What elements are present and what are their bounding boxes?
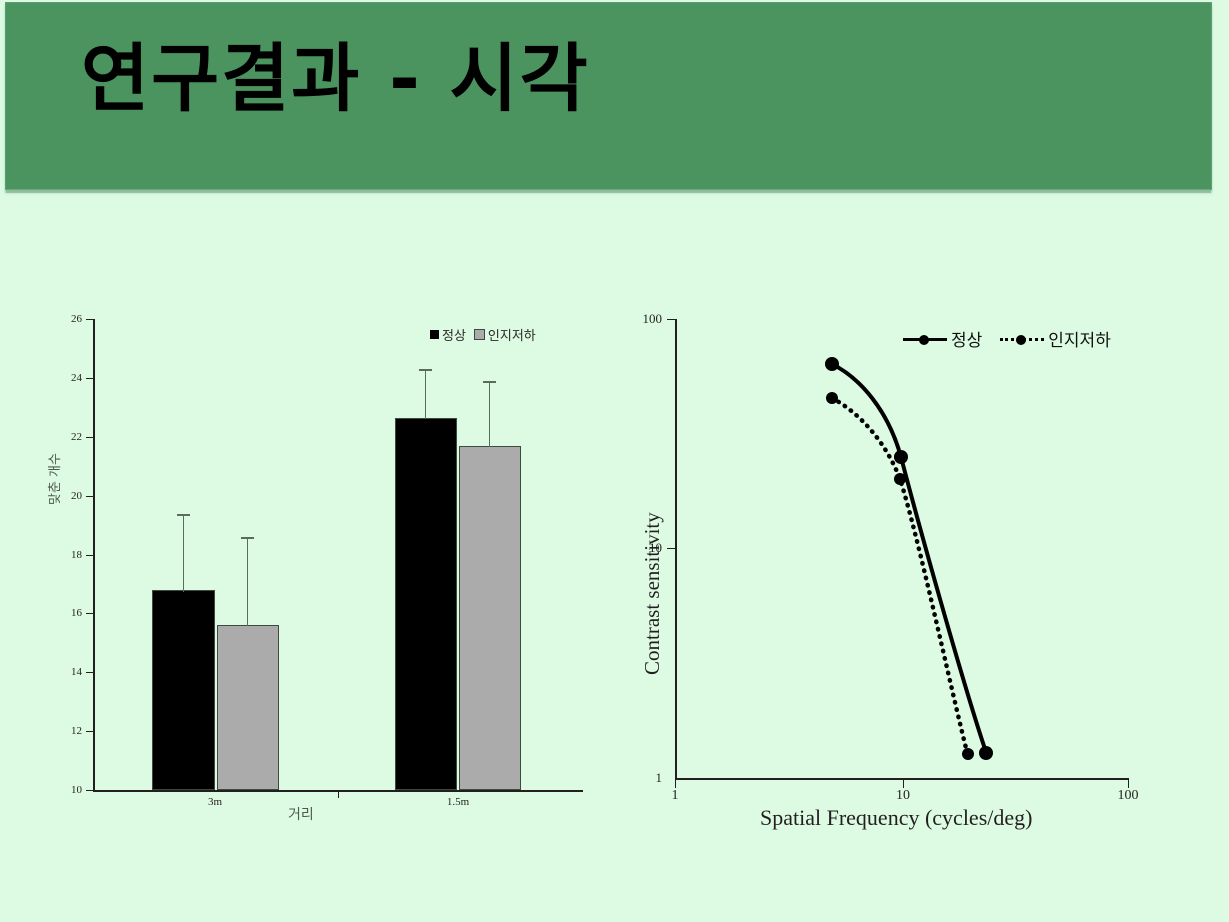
error-bar-cap [483, 381, 496, 383]
error-bar-normal-1.5m [425, 369, 426, 419]
bar-chart-legend: 정상 인지저하 [430, 325, 536, 344]
legend-label-impaired: 인지저하 [1048, 326, 1111, 351]
bar-chart-y-tick-label: 16 [52, 607, 82, 619]
bar-chart-y-axis [93, 319, 95, 791]
bar-chart: 26 24 22 20 18 16 14 12 10 맞춘 개수 3m 1.5m [0, 0, 610, 860]
bar-chart-y-tick [86, 319, 93, 320]
bar-chart-y-tick [86, 378, 93, 379]
bar-chart-y-tick [86, 613, 93, 614]
bar-chart-y-tick [86, 790, 93, 791]
bar-chart-y-tick-label: 24 [52, 372, 82, 384]
line-chart-plot-area [610, 300, 1229, 860]
legend-item-impaired: 인지저하 [1000, 326, 1111, 351]
data-point-normal [979, 746, 993, 760]
series-line-normal [832, 364, 986, 752]
legend-item-normal: 정상 [903, 326, 982, 351]
legend-label-impaired: 인지저하 [488, 325, 536, 344]
bar-chart-x-tick-label: 3m [185, 796, 245, 808]
data-point-impaired [962, 748, 974, 760]
bar-chart-y-tick-label: 26 [52, 313, 82, 325]
legend-label-normal: 정상 [442, 325, 466, 344]
bar-chart-y-tick [86, 731, 93, 732]
legend-dotted-line-icon [1000, 334, 1044, 344]
legend-swatch-icon [474, 329, 485, 340]
bar-chart-x-axis-label: 거리 [288, 804, 314, 824]
bar-chart-y-tick-label: 10 [52, 784, 82, 796]
bar-chart-x-tick-label: 1.5m [428, 796, 488, 808]
error-bar-normal-3m [183, 514, 184, 592]
error-bar-cap [241, 537, 254, 539]
data-point-impaired [894, 473, 906, 485]
data-point-normal [825, 357, 839, 371]
contrast-sensitivity-chart: 100 10 1 1 10 100 Contrast sensitivity S… [610, 300, 1229, 860]
error-bar-impaired-3m [247, 537, 248, 626]
bar-chart-x-tick [338, 791, 339, 798]
bar-normal-3m [152, 590, 215, 790]
bar-normal-1.5m [395, 418, 457, 790]
bar-chart-y-tick [86, 496, 93, 497]
data-point-impaired [826, 392, 838, 404]
legend-item-impaired: 인지저하 [474, 325, 536, 344]
error-bar-impaired-1.5m [489, 381, 490, 447]
legend-solid-line-icon [903, 334, 947, 344]
error-bar-cap [419, 369, 432, 371]
bar-impaired-1.5m [459, 446, 521, 790]
legend-label-normal: 정상 [951, 326, 982, 351]
bar-chart-y-tick-label: 12 [52, 725, 82, 737]
bar-impaired-3m [217, 625, 279, 790]
legend-item-normal: 정상 [430, 325, 466, 344]
data-point-normal [894, 450, 908, 464]
bar-chart-y-tick-label: 18 [52, 549, 82, 561]
bar-chart-y-tick [86, 437, 93, 438]
bar-chart-y-tick [86, 555, 93, 556]
bar-chart-y-tick-label: 14 [52, 666, 82, 678]
error-bar-cap [177, 514, 190, 516]
bar-chart-y-axis-label: 맞춘 개수 [44, 385, 63, 505]
legend-swatch-icon [430, 330, 439, 339]
line-chart-legend: 정상 인지저하 [903, 326, 1111, 351]
bar-chart-y-tick [86, 672, 93, 673]
